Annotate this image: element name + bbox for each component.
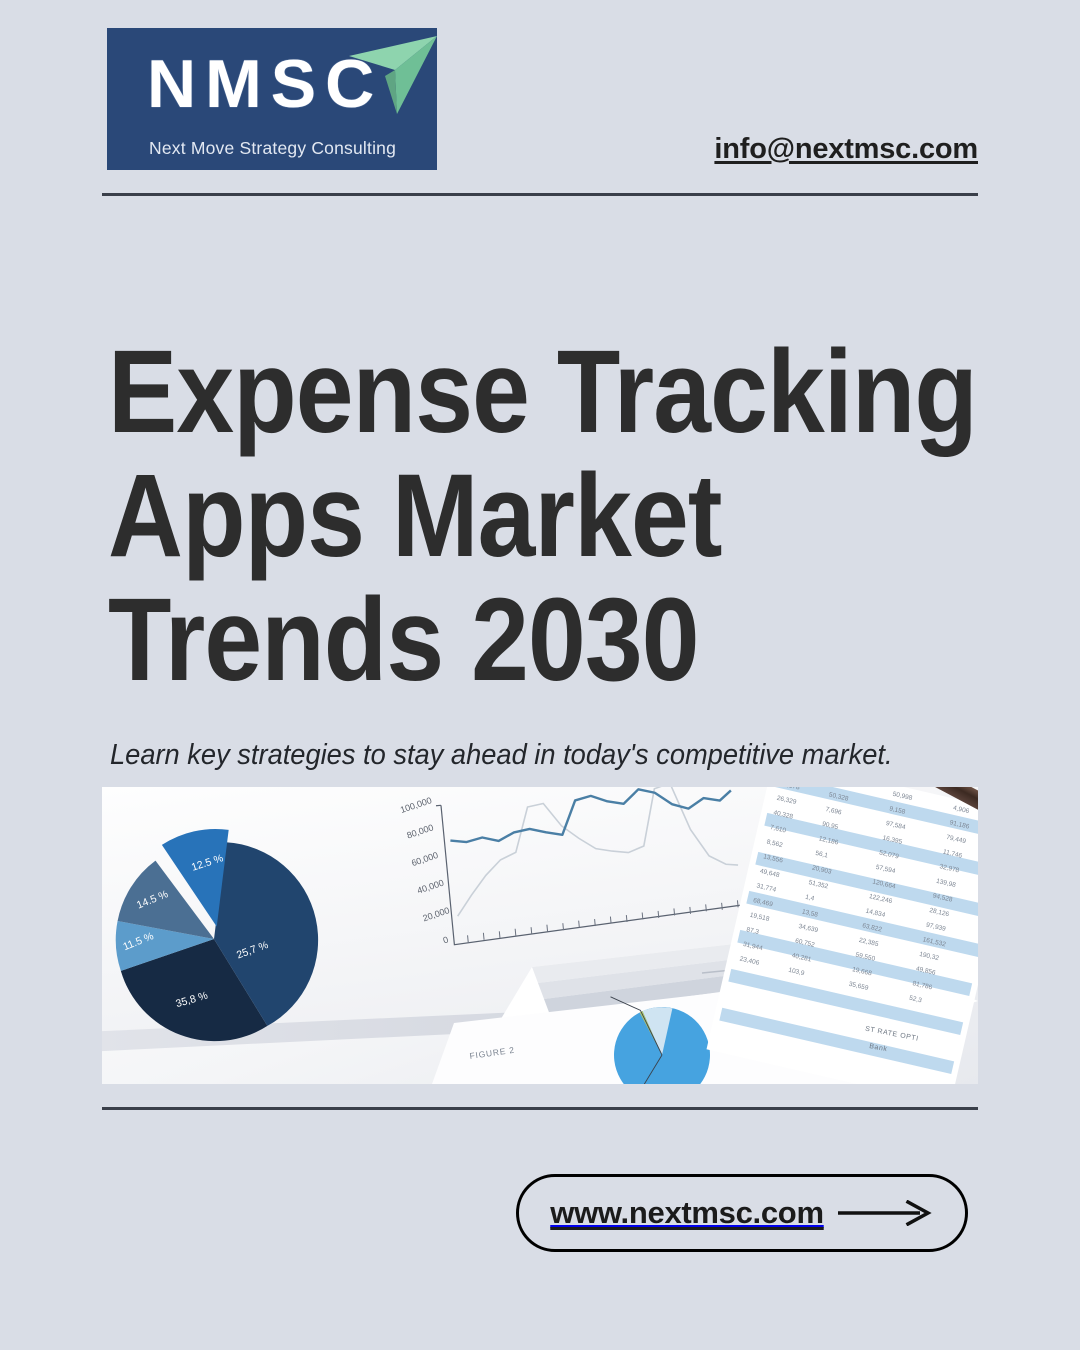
page-title: Expense Tracking Apps Market Trends 2030: [108, 330, 988, 702]
hero-photo: 12.5 % 14.5 % 11.5 % 25,7 % 35,8 % 100,0…: [102, 787, 978, 1084]
logo-wordmark: NMSC: [147, 50, 383, 118]
divider-top: [102, 193, 978, 196]
divider-bottom: [102, 1107, 978, 1110]
logo-tagline: Next Move Strategy Consulting: [149, 138, 396, 159]
company-logo: NMSC Next Move Strategy Consulting: [107, 28, 437, 170]
headline-line-1: Expense Tracking: [108, 330, 882, 454]
email-link[interactable]: info@nextmsc.com: [714, 133, 978, 166]
cta-url-label: www.nextmsc.com: [550, 1195, 823, 1231]
headline-line-3: Trends 2030: [108, 578, 882, 702]
website-cta-button[interactable]: www.nextmsc.com: [516, 1174, 968, 1252]
header: NMSC Next Move Strategy Consulting info@…: [0, 0, 1080, 190]
headline-line-2: Apps Market: [108, 454, 882, 578]
arrow-right-icon: [838, 1200, 934, 1226]
subtitle: Learn key strategies to stay ahead in to…: [110, 739, 893, 772]
